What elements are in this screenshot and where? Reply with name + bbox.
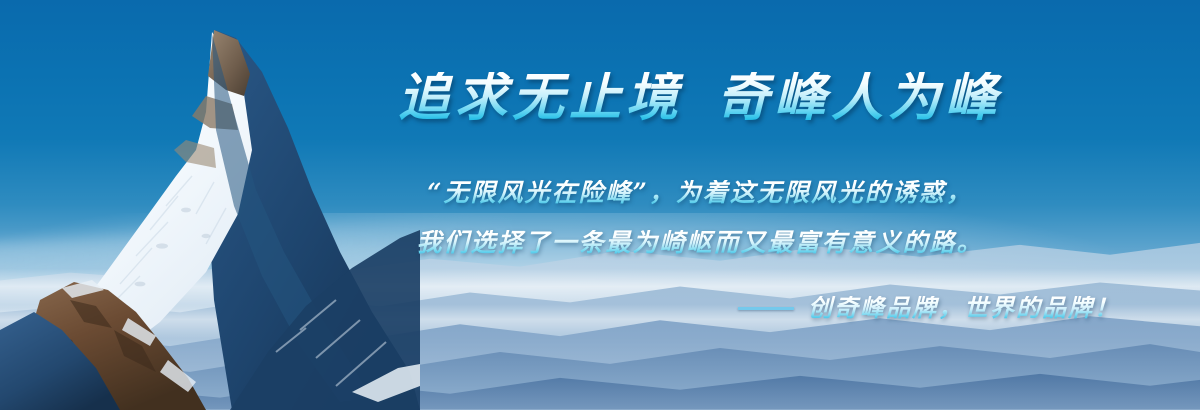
mountain-peak-image	[0, 0, 420, 410]
hero-banner: 追求无止境奇峰人为峰 “无限风光在险峰”，为着这无限风光的诱惑， 我们选择了一条…	[0, 0, 1200, 410]
